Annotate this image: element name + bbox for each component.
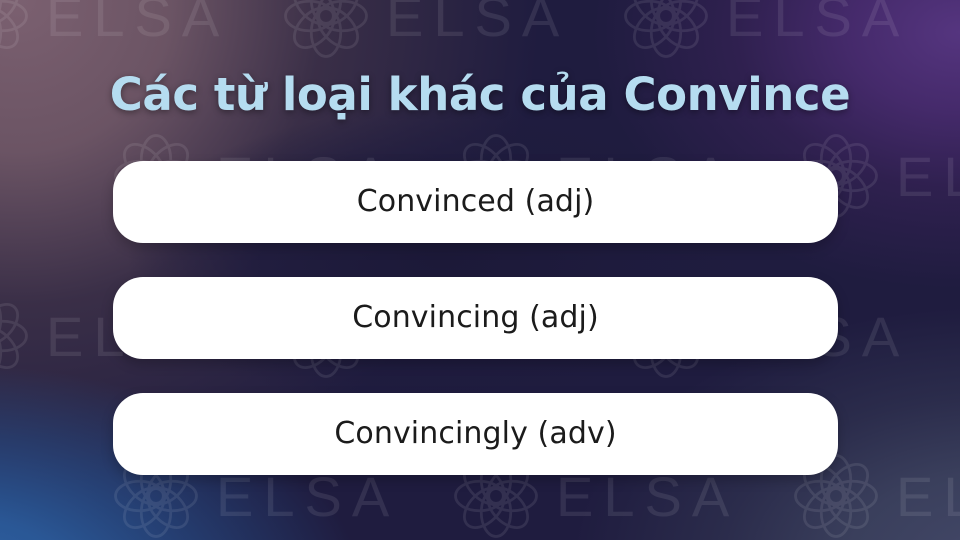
page-title: Các từ loại khác của Convince: [0, 68, 960, 121]
slide-canvas: ELSAELSAELSAELSAELSAELSAELSAELSAELSAELSA…: [0, 0, 960, 540]
word-form-label: Convinced (adj): [357, 187, 595, 217]
list-item[interactable]: Convincing (adj): [113, 277, 838, 359]
word-form-label: Convincingly (adv): [334, 419, 616, 449]
list-item[interactable]: Convincingly (adv): [113, 393, 838, 475]
list-item[interactable]: Convinced (adj): [113, 161, 838, 243]
word-forms-list: Convinced (adj) Convincing (adj) Convinc…: [113, 161, 838, 475]
word-form-label: Convincing (adj): [352, 303, 599, 333]
